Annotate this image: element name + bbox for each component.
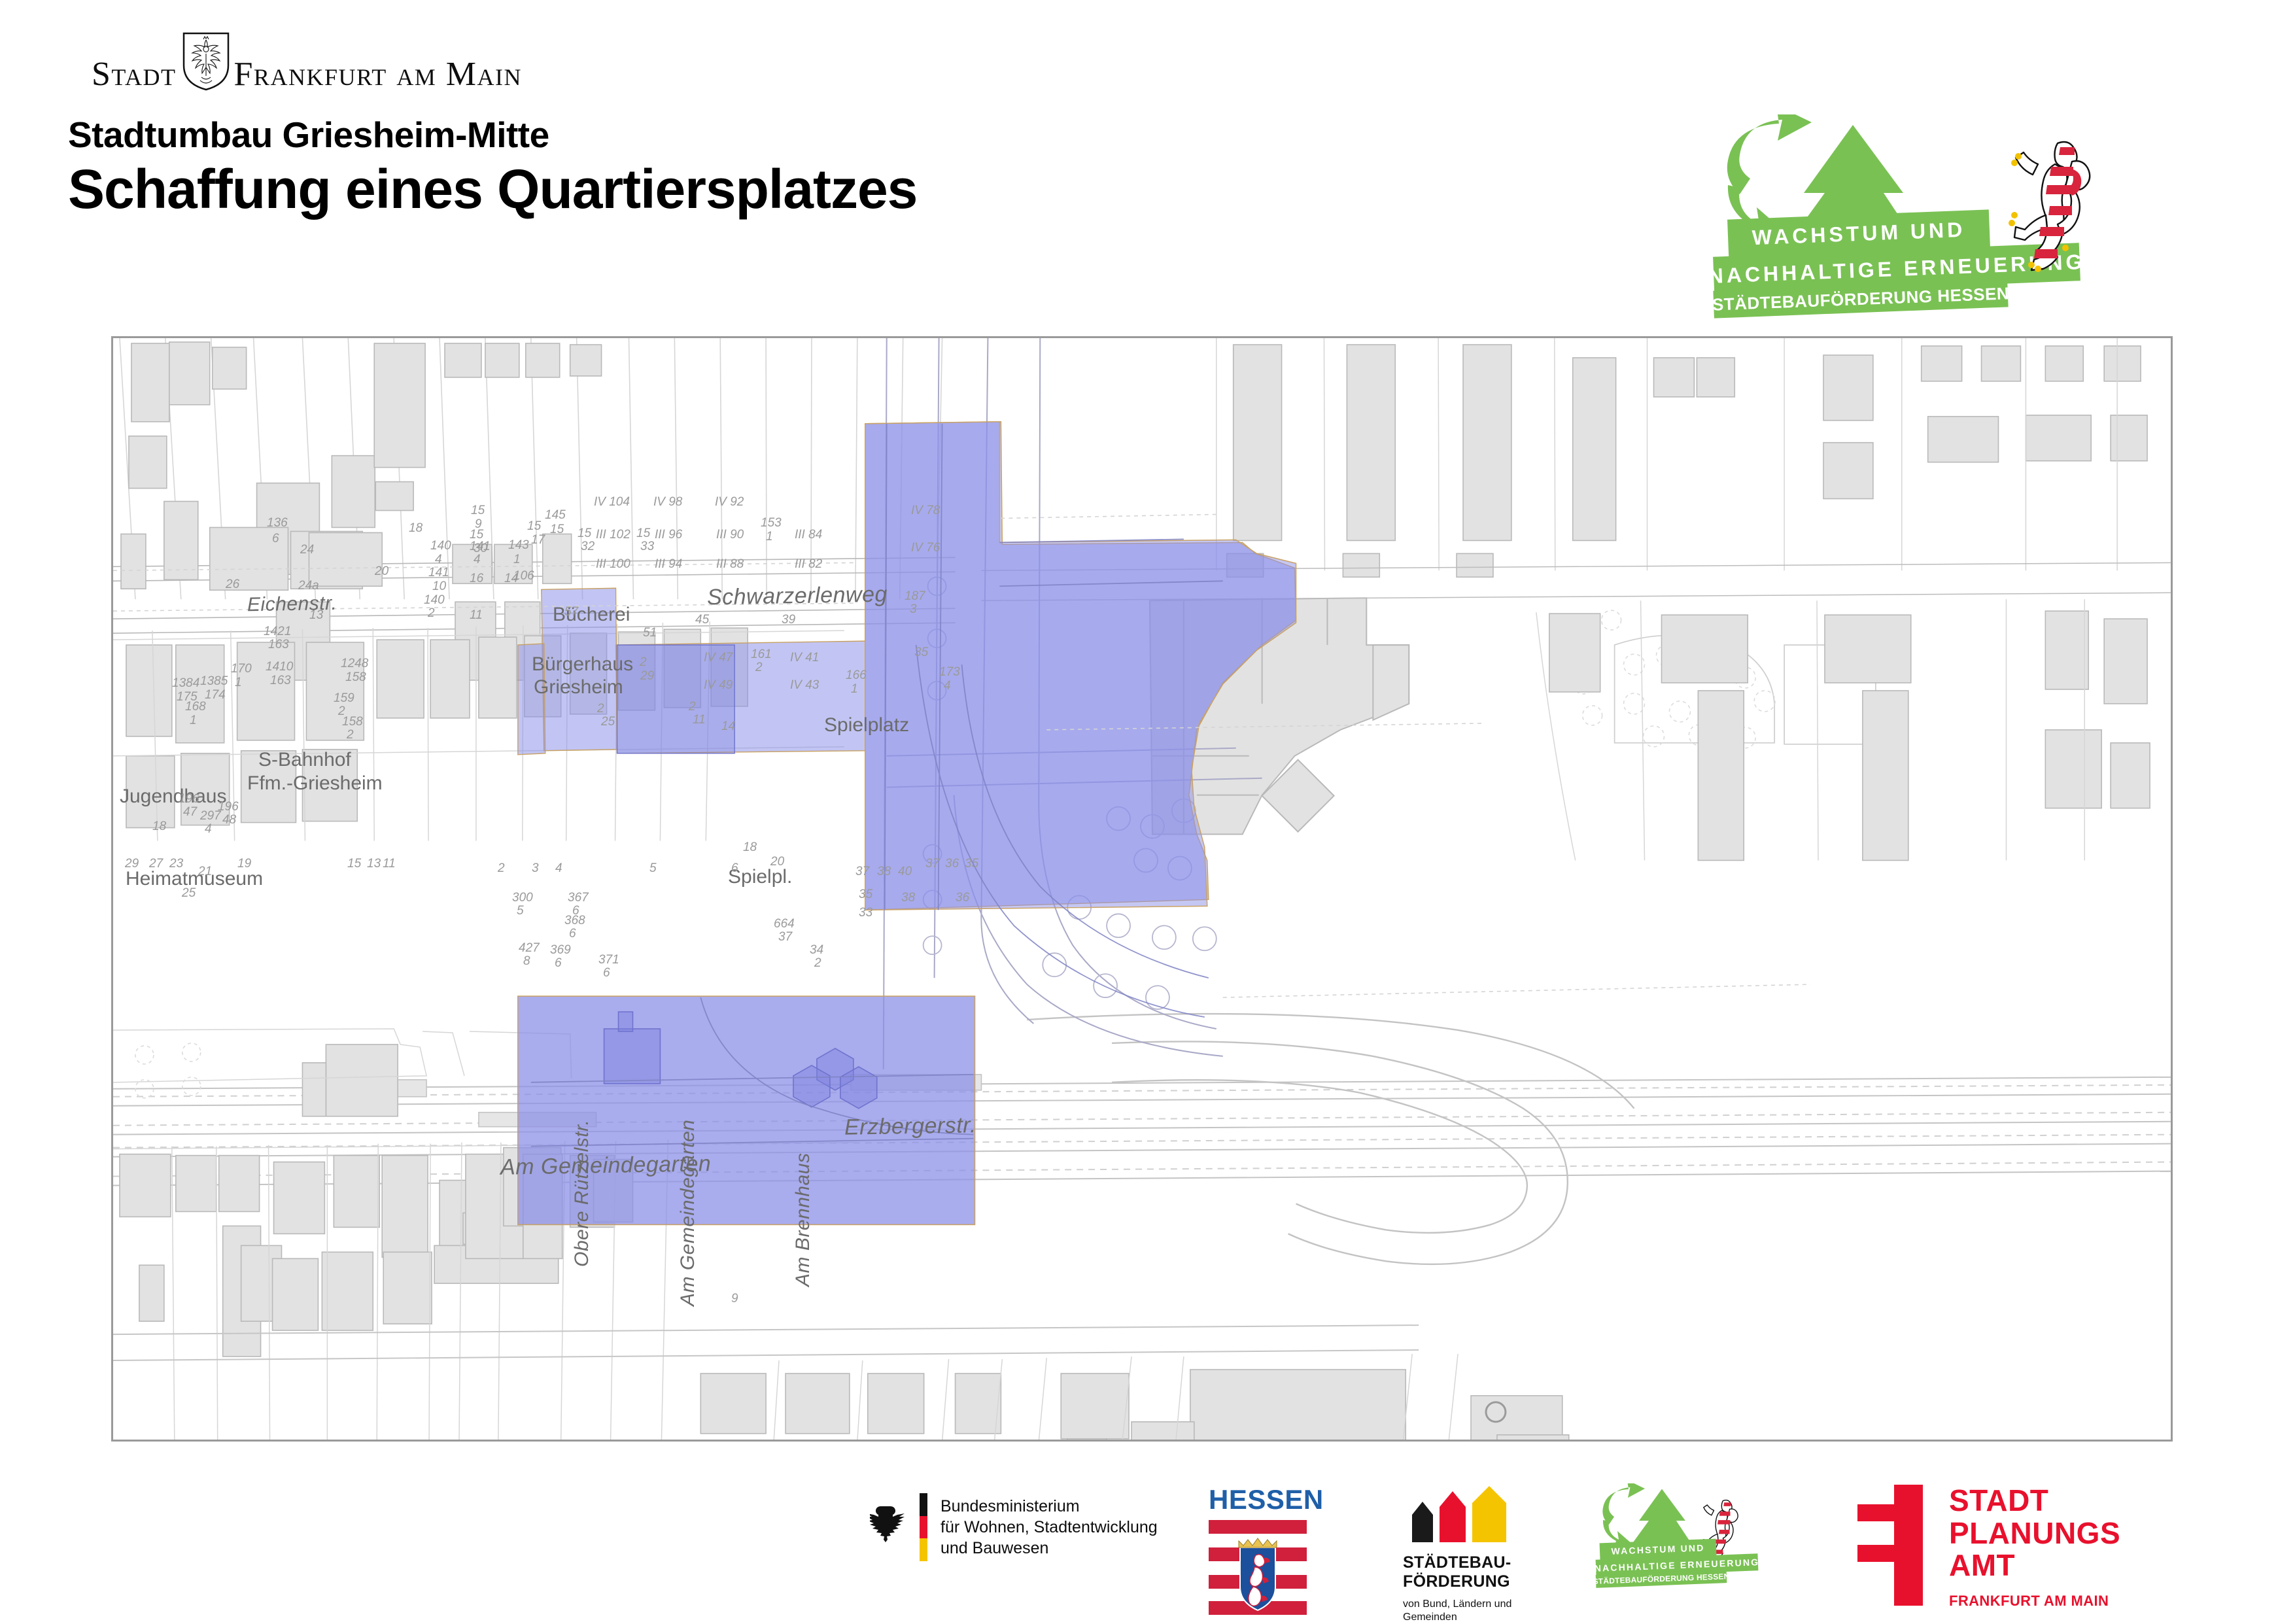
staedtebaufoerderung-line-1: STÄDTEBAU-: [1403, 1553, 1534, 1572]
staedtebaufoerderung-logo: STÄDTEBAU- FÖRDERUNG von Bund, Ländern u…: [1403, 1486, 1534, 1617]
city-logo: Stadt Frankfurt am Main: [92, 31, 510, 92]
city-logo-frankfurt: Frankfurt am Main: [234, 58, 523, 92]
cadastral-map[interactable]: Eichenstr. Schwarzerlenweg Erzbergerstr.…: [111, 336, 2173, 1442]
staedtebaufoerderung-line-2: FÖRDERUNG: [1403, 1572, 1534, 1591]
spa-line-2: PLANUNGS: [1949, 1517, 2120, 1550]
project-subtitle: Stadtumbau Griesheim-Mitte: [68, 116, 1311, 154]
bmwsb-line-3: und Bauwesen: [940, 1538, 1158, 1559]
page-title: Schaffung eines Quartiersplatzes: [68, 160, 1311, 219]
staedtebaufoerderung-sub-1: von Bund, Ländern und: [1403, 1598, 1534, 1611]
staedtebaufoerderung-subtitle: von Bund, Ländern und Gemeinden: [1403, 1598, 1534, 1624]
title-block: Stadtumbau Griesheim-Mitte Schaffung ein…: [68, 116, 1311, 218]
bundesadler-icon: [870, 1504, 910, 1551]
hessen-lion-icon: [1995, 133, 2099, 277]
stadtplanungsamt-text: STADT PLANUNGS AMT FRANKFURT AM MAIN: [1949, 1485, 2120, 1615]
program-logo: WACHSTUM UND NACHHALTIGE ERNEUERUNG STÄD…: [1714, 114, 2165, 350]
bmwsb-logo: Bundesministerium für Wohnen, Stadtentwi…: [870, 1491, 1177, 1563]
wachstum-footer-logo: WACHSTUM UND NACHHALTIGE ERNEUERUNG STÄD…: [1596, 1483, 1786, 1601]
stadtplanungsamt-mark-icon: [1857, 1485, 1923, 1606]
spa-line-3: AMT: [1949, 1549, 2120, 1582]
stadtplanungsamt-logo: STADT PLANUNGS AMT FRANKFURT AM MAIN: [1857, 1485, 2198, 1615]
hessen-coat-of-arms-icon: [1209, 1519, 1307, 1615]
spa-subtitle: FRANKFURT AM MAIN: [1949, 1593, 2120, 1610]
hessen-logo: HESSEN: [1209, 1486, 1307, 1610]
bmwsb-text: Bundesministerium für Wohnen, Stadtentwi…: [940, 1496, 1158, 1559]
city-logo-stadt: Stadt: [92, 58, 177, 92]
frankfurt-eagle-shield-icon: [182, 31, 230, 92]
map-canvas: [113, 338, 2171, 1442]
spa-line-1: STADT: [1949, 1485, 2120, 1517]
staedtebaufoerderung-title: STÄDTEBAU- FÖRDERUNG: [1403, 1553, 1534, 1591]
german-flag-icon: [920, 1493, 927, 1561]
bmwsb-line-1: Bundesministerium: [940, 1496, 1158, 1517]
three-houses-icon: [1403, 1486, 1521, 1542]
hessen-wordmark: HESSEN: [1209, 1486, 1307, 1513]
bmwsb-line-2: für Wohnen, Stadtentwicklung: [940, 1517, 1158, 1538]
